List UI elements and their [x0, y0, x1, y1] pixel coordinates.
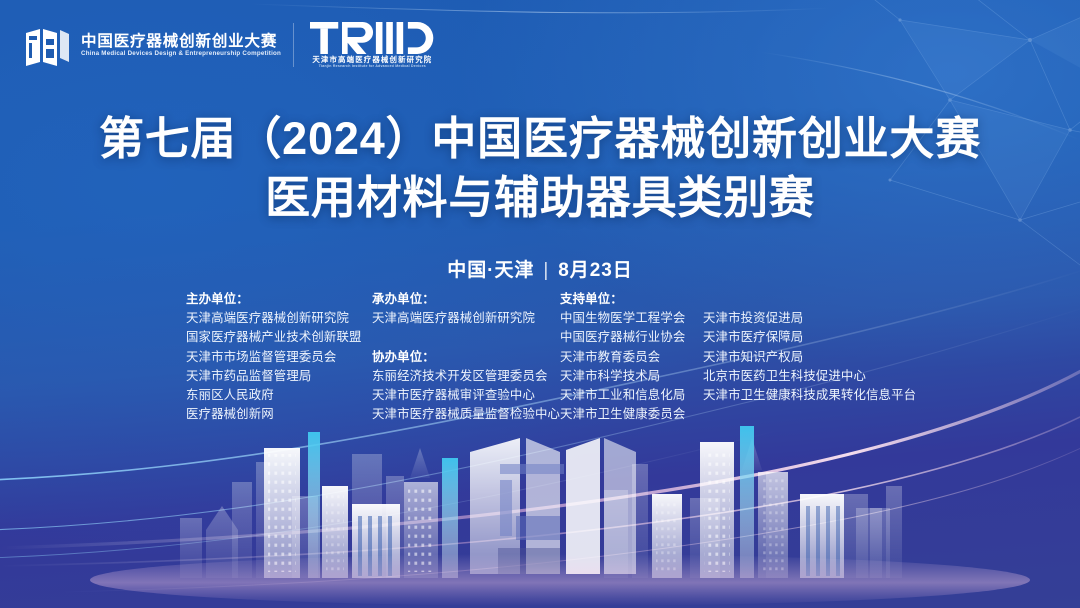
subtitle-location: 中国·天津 — [447, 260, 534, 281]
list-item: 天津市医疗保障局 — [703, 328, 916, 347]
list-item: 天津市市场监督管理委员会 — [186, 348, 372, 367]
host-heading: 主办单位： — [186, 290, 372, 309]
list-item: 天津市投资促进局 — [703, 309, 916, 328]
list-item: 天津市药品监督管理局 — [186, 367, 372, 386]
list-item: 天津市教育委员会 — [560, 348, 703, 367]
list-item: 天津市卫生健康委员会 — [560, 405, 703, 424]
logo-divider — [293, 23, 294, 67]
list-item: 中国生物医学工程学会 — [560, 309, 703, 328]
host-column: 主办单位： 天津高端医疗器械创新研究院 国家医疗器械产业技术创新联盟 天津市市场… — [186, 290, 372, 424]
list-item: 北京市医药卫生科技促进中心 — [703, 367, 916, 386]
poster-title-line1: 第七届（2024）中国医疗器械创新创业大赛 — [0, 112, 1080, 165]
supporter-column: 支持单位： 中国生物医学工程学会 中国医疗器械行业协会 天津市教育委员会 天津市… — [560, 290, 916, 424]
institute-name-en: Tianjin Research Institute for Advanced … — [319, 65, 426, 69]
supporter-sublist-right: 天津市投资促进局 天津市医疗保障局 天津市知识产权局 北京市医药卫生科技促进中心… — [703, 309, 916, 424]
list-item: 医疗器械创新网 — [186, 405, 372, 424]
subtitle-date: 8月23日 — [558, 260, 632, 281]
city-skyline-silhouette-icon — [0, 398, 1080, 608]
supporter-grid: 中国生物医学工程学会 中国医疗器械行业协会 天津市教育委员会 天津市科学技术局 … — [560, 309, 916, 424]
competition-name-en: China Medical Devices Design & Entrepren… — [81, 51, 281, 57]
list-item: 天津市科学技术局 — [560, 367, 703, 386]
list-item: 东丽区人民政府 — [186, 386, 372, 405]
supporter-sublist-left: 中国生物医学工程学会 中国医疗器械行业协会 天津市教育委员会 天津市科学技术局 … — [560, 309, 703, 424]
conference-poster: 中国医疗器械创新创业大赛 China Medical Devices Desig… — [0, 0, 1080, 608]
organizer-heading: 承办单位： — [372, 290, 560, 309]
list-item: 天津市卫生健康科技成果转化信息平台 — [703, 386, 916, 405]
list-item: 天津市医疗器械质量监督检验中心 — [372, 405, 560, 424]
list-item: 天津市工业和信息化局 — [560, 386, 703, 405]
poster-title-line2: 医用材料与辅助器具类别赛 — [0, 171, 1080, 224]
list-item: 天津市医疗器械审评查验中心 — [372, 386, 560, 405]
list-item: 东丽经济技术开发区管理委员会 — [372, 367, 560, 386]
poster-header: 中国医疗器械创新创业大赛 China Medical Devices Desig… — [24, 22, 434, 69]
list-item: 天津市知识产权局 — [703, 348, 916, 367]
list-item: 天津高端医疗器械创新研究院 — [372, 309, 560, 328]
organizations-block: 主办单位： 天津高端医疗器械创新研究院 国家医疗器械产业技术创新联盟 天津市市场… — [186, 290, 916, 424]
co-organizer-heading: 协办单位： — [372, 348, 560, 367]
competition-logo: 中国医疗器械创新创业大赛 China Medical Devices Desig… — [24, 22, 277, 68]
supporter-heading: 支持单位： — [560, 290, 916, 309]
column-spacer — [372, 328, 560, 347]
list-item: 天津高端医疗器械创新研究院 — [186, 309, 372, 328]
institute-name-zh: 天津市高端医疗器械创新研究院 — [312, 56, 432, 63]
open-door-gate-logo-icon — [24, 22, 70, 68]
competition-logo-text: 中国医疗器械创新创业大赛 China Medical Devices Desig… — [81, 34, 277, 58]
institute-logo: 天津市高端医疗器械创新研究院 Tianjin Research Institut… — [310, 22, 434, 69]
poster-subtitle: 中国·天津|8月23日 — [0, 255, 1080, 282]
subtitle-separator: | — [543, 260, 549, 282]
organizer-column: 承办单位： 天津高端医疗器械创新研究院 协办单位： 东丽经济技术开发区管理委员会… — [372, 290, 560, 424]
list-item: 中国医疗器械行业协会 — [560, 328, 703, 347]
poster-title-block: 第七届（2024）中国医疗器械创新创业大赛 医用材料与辅助器具类别赛 — [0, 112, 1080, 224]
competition-name-zh: 中国医疗器械创新创业大赛 — [81, 34, 277, 50]
list-item: 国家医疗器械产业技术创新联盟 — [186, 328, 372, 347]
triid-wordmark-icon — [310, 22, 434, 54]
